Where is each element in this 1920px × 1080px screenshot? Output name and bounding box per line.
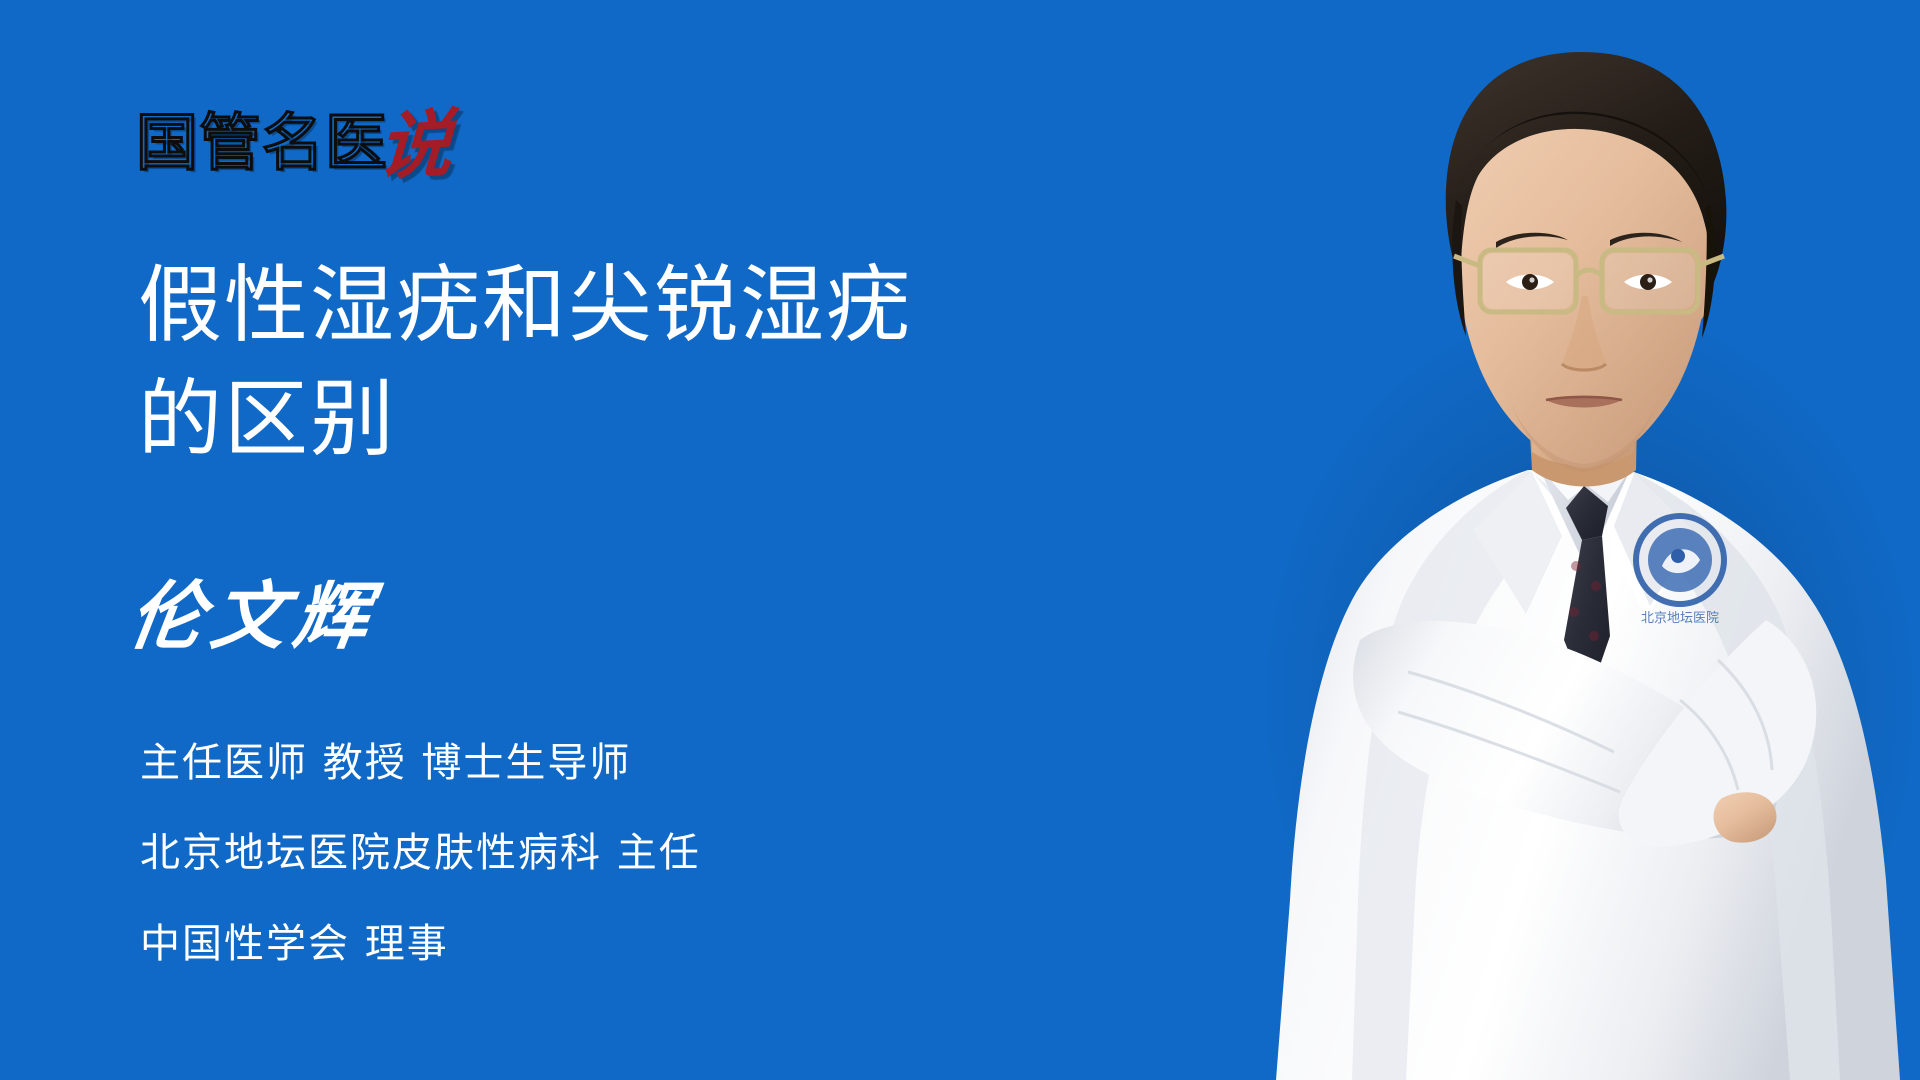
page-title: 假性湿疣和尖锐湿疣 的区别 — [138, 248, 1138, 476]
doctor-portrait-icon: 北京地坛医院 — [1210, 0, 1920, 1080]
svg-text:北京地坛医院: 北京地坛医院 — [1641, 611, 1719, 626]
hand — [1713, 792, 1776, 842]
white-coat — [1276, 470, 1900, 1080]
eyeglasses — [1454, 250, 1724, 312]
necktie — [1564, 536, 1610, 700]
hospital-badge-icon: 北京地坛医院 — [1636, 516, 1724, 626]
crossed-arms — [1353, 621, 1776, 838]
brand-logo-text: 国管名医 — [136, 112, 388, 174]
credential-line-1: 主任医师 教授 博士生导师 — [140, 718, 1120, 808]
title-line-2: 的区别 — [138, 362, 1138, 476]
face — [1456, 72, 1710, 468]
video-cover-slide: 国管名医 说 假性湿疣和尖锐湿疣 的区别 伦文辉 主任医师 教授 博士生导师 北… — [0, 0, 1920, 1080]
doctor-name: 伦文辉 — [125, 580, 381, 654]
doctor-credentials: 主任医师 教授 博士生导师 北京地坛医院皮肤性病科 主任 中国性学会 理事 — [140, 718, 1120, 989]
credential-line-2: 北京地坛医院皮肤性病科 主任 — [140, 808, 1120, 898]
title-line-1: 假性湿疣和尖锐湿疣 — [138, 248, 1138, 362]
brand-logo-accent-character: 说 — [376, 110, 454, 182]
credential-line-3: 中国性学会 理事 — [140, 899, 1120, 989]
brand-logo: 国管名医 说 — [136, 96, 452, 174]
hair — [1446, 52, 1727, 282]
